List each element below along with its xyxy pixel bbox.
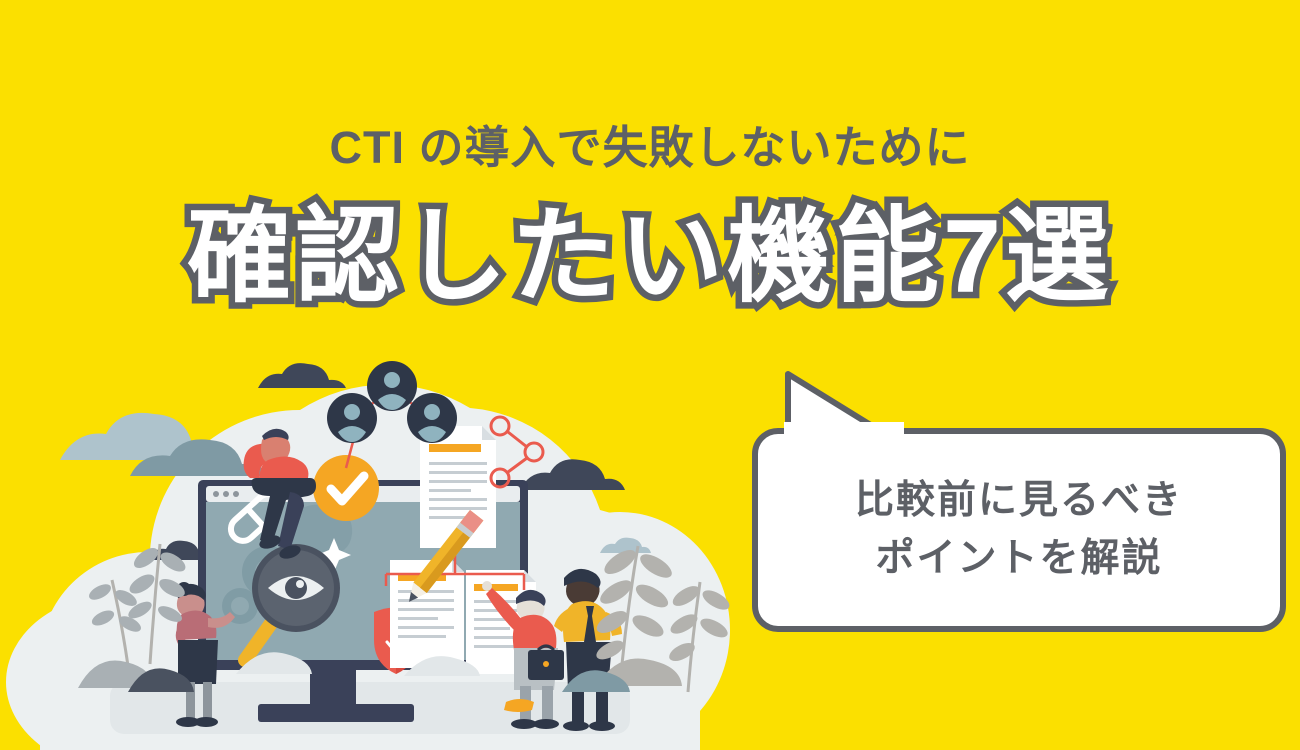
speech-bubble: 比較前に見るべき ポイントを解説 bbox=[752, 428, 1286, 632]
hero-illustration bbox=[0, 330, 760, 750]
speech-bubble-tail bbox=[782, 370, 912, 440]
page-title: 確認したい機能7選 bbox=[0, 196, 1300, 319]
bubble-line-1: 比較前に見るべき bbox=[855, 472, 1183, 531]
bubble-line-2: ポイントを解説 bbox=[875, 530, 1162, 589]
banner-canvas: CTI の導入で失敗しないために 確認したい機能7選 比較前に見るべき ポイント… bbox=[0, 0, 1300, 750]
subtitle: CTI の導入で失敗しないために bbox=[0, 123, 1300, 173]
